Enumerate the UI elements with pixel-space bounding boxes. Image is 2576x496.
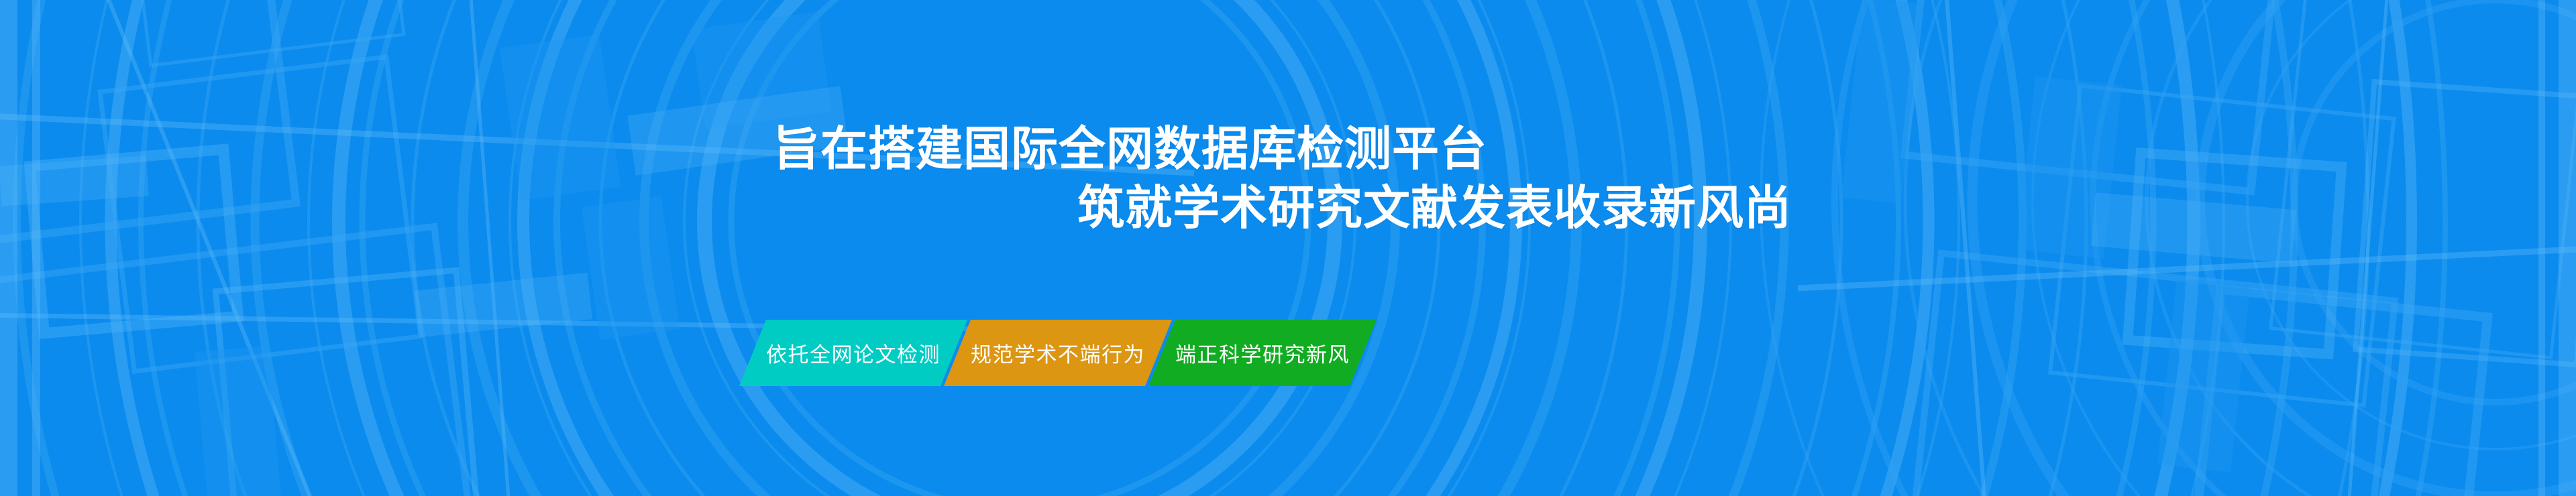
tag-academic-misconduct[interactable]: 规范学术不端行为 <box>944 320 1172 386</box>
promo-banner: 旨在搭建国际全网数据库检测平台 筑就学术研究文献发表收录新风尚 依托全网论文检测… <box>0 0 2576 496</box>
tag-academic-misconduct-label: 规范学术不端行为 <box>971 338 1145 368</box>
tag-paper-detection-label: 依托全网论文检测 <box>766 338 941 368</box>
feature-tag-strip: 依托全网论文检测 规范学术不端行为 端正科学研究新风 <box>753 320 1363 386</box>
headline-block: 旨在搭建国际全网数据库检测平台 筑就学术研究文献发表收录新风尚 <box>0 119 2576 237</box>
tag-research-ethos[interactable]: 端正科学研究新风 <box>1148 320 1377 386</box>
headline-line-1: 旨在搭建国际全网数据库检测平台 <box>773 119 2576 178</box>
tag-paper-detection[interactable]: 依托全网论文检测 <box>739 320 967 386</box>
tag-research-ethos-label: 端正科学研究新风 <box>1175 338 1350 368</box>
background-pattern <box>0 0 2576 496</box>
headline-line-2: 筑就学术研究文献发表收录新风尚 <box>1077 178 2576 237</box>
